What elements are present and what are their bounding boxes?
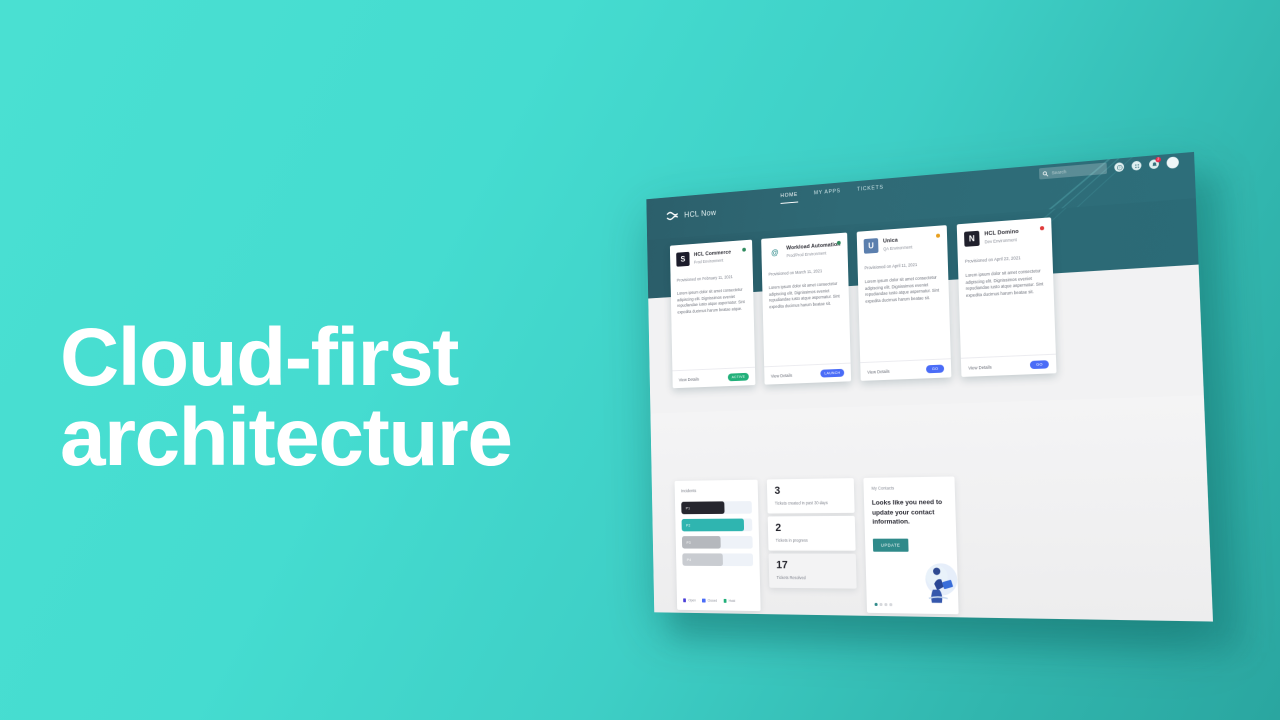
search-icon [1042, 170, 1048, 177]
stat-label: Tickets in progress [776, 538, 848, 543]
contacts-message: Looks like you need to update your conta… [872, 498, 948, 527]
notification-icon[interactable]: 2 [1149, 159, 1159, 169]
card-header: S HCL Commerce Prod Environment [676, 248, 746, 267]
card-header: U Unica QA Environment [864, 234, 941, 254]
card-header: @ Workload Automation Prod/Prod Environm… [768, 241, 841, 261]
user-avatar[interactable] [1166, 156, 1179, 169]
app-window: HCL Now HOME MY APPS TICKETS Search [646, 152, 1213, 622]
brand[interactable]: HCL Now [666, 205, 717, 223]
provisioned-date: Provisioned on March 11, 2021 [768, 267, 841, 277]
bar-row: P1 [681, 501, 752, 514]
bar-fill: P3 [682, 536, 721, 549]
bar-label: P4 [687, 558, 691, 562]
product-card-workload-automation[interactable]: @ Workload Automation Prod/Prod Environm… [761, 233, 851, 385]
bar-row: P3 [682, 536, 753, 549]
bar-label: P3 [686, 540, 690, 544]
card-action-button[interactable]: GO [926, 365, 944, 374]
stat-number: 3 [774, 485, 846, 497]
view-details-link[interactable]: View Details [968, 364, 992, 370]
view-details-link[interactable]: View Details [867, 368, 889, 374]
apps-icon[interactable] [1131, 161, 1141, 171]
bar-row: P2 [682, 519, 753, 532]
nav-item-home[interactable]: HOME [780, 192, 798, 204]
nav-item-tickets[interactable]: TICKETS [857, 185, 884, 197]
brand-name: HCL Now [684, 208, 716, 219]
legend-swatch [702, 599, 705, 602]
product-card-domino[interactable]: N HCL Domino Dev Environment Provisioned… [957, 217, 1057, 377]
legend-item-hold: Hold [723, 599, 735, 603]
product-description: Lorem ipsum dolor sit amet consectetur a… [865, 274, 942, 304]
incidents-title: Incidents [681, 487, 752, 493]
stat-tickets-created: 3 Tickets created in past 30 days [767, 478, 855, 513]
product-description: Lorem ipsum dolor sit amet consectetur a… [677, 287, 747, 316]
headline-line-1: Cloud-first [60, 312, 458, 403]
legend-item-closed: Closed [702, 599, 717, 603]
stat-label: Tickets created in past 30 days [775, 500, 847, 506]
page-title: Cloud-first architecture [60, 318, 660, 479]
product-card-unica[interactable]: U Unica QA Environment Provisioned on Ap… [857, 225, 952, 381]
slide-canvas: Cloud-first architecture HCL Now [0, 0, 1280, 720]
incidents-bars: P1 P2 P3 [681, 501, 754, 593]
carousel-dot[interactable] [880, 603, 883, 606]
carousel-dot[interactable] [875, 603, 878, 606]
provisioned-date: Provisioned on April 22, 2021 [965, 254, 1045, 264]
stat-label: Tickets Resolved [777, 575, 849, 580]
card-header: N HCL Domino Dev Environment [964, 226, 1045, 247]
dashboard-body: Incidents P1 P2 [650, 395, 1213, 621]
view-details-link[interactable]: View Details [771, 372, 792, 378]
stat-number: 2 [775, 523, 847, 534]
stat-tickets-resolved: 17 Tickets Resolved [769, 554, 857, 589]
carousel-dot[interactable] [885, 603, 888, 606]
bar-fill: P1 [681, 501, 725, 514]
card-action-button[interactable]: GO [1030, 360, 1049, 369]
bar-fill: P4 [682, 553, 723, 566]
search-placeholder: Search [1052, 169, 1067, 175]
carousel-dots[interactable] [875, 603, 893, 606]
legend-label: Hold [729, 599, 735, 603]
svg-text:?: ? [1118, 165, 1120, 169]
bar-row: P4 [682, 553, 753, 566]
legend-swatch [683, 599, 686, 602]
card-action-button[interactable]: LAUNCH [820, 369, 844, 378]
product-card-commerce[interactable]: S HCL Commerce Prod Environment Provisio… [670, 240, 756, 389]
contact-illustration [915, 559, 959, 606]
card-action-button[interactable]: ACTIVE [728, 373, 749, 382]
product-logo-icon: U [864, 238, 879, 254]
card-footer: View Details GO [860, 358, 951, 381]
product-cards-row: S HCL Commerce Prod Environment Provisio… [670, 217, 1057, 388]
card-footer: View Details GO [961, 354, 1057, 377]
legend-item-open: Open [683, 598, 696, 602]
view-details-link[interactable]: View Details [679, 376, 699, 382]
carousel-dot[interactable] [890, 603, 893, 606]
incidents-widget: Incidents P1 P2 [675, 480, 761, 611]
ticket-stats-widget: 3 Tickets created in past 30 days 2 Tick… [767, 478, 857, 589]
notification-badge: 2 [1155, 157, 1161, 163]
hcl-logo-icon [666, 209, 679, 224]
product-description: Lorem ipsum dolor sit amet consectetur a… [769, 281, 843, 311]
provisioned-date: Provisioned on February 11, 2021 [677, 273, 747, 282]
card-footer: View Details LAUNCH [764, 363, 851, 385]
nav-item-my-apps[interactable]: MY APPS [814, 188, 841, 200]
bar-label: P1 [686, 506, 690, 510]
legend-label: Open [688, 598, 696, 602]
bar-label: P2 [686, 523, 690, 527]
provisioned-date: Provisioned on April 11, 2021 [864, 260, 941, 270]
product-logo-icon: N [964, 231, 980, 247]
bar-fill: P2 [682, 519, 744, 532]
product-description: Lorem ipsum dolor sit amet consectetur a… [965, 268, 1046, 299]
product-logo-icon: S [676, 252, 690, 267]
stat-tickets-in-progress: 2 Tickets in progress [768, 516, 856, 551]
help-icon[interactable]: ? [1114, 162, 1124, 172]
incidents-legend: Open Closed Hold [683, 593, 754, 604]
legend-label: Closed [707, 599, 717, 603]
widgets-row: Incidents P1 P2 [675, 476, 959, 614]
legend-swatch [723, 599, 726, 602]
app-window-scene: HCL Now HOME MY APPS TICKETS Search [600, 120, 1240, 640]
stat-number: 17 [776, 560, 848, 571]
card-footer: View Details ACTIVE [672, 367, 755, 388]
update-button[interactable]: UPDATE [873, 538, 909, 551]
contacts-title: My Contacts [871, 485, 946, 491]
my-contacts-widget: My Contacts Looks like you need to updat… [863, 476, 958, 614]
top-navigation: HOME MY APPS TICKETS [780, 185, 883, 204]
headline-line-2: architecture [60, 398, 660, 478]
product-logo-icon: @ [768, 245, 782, 260]
